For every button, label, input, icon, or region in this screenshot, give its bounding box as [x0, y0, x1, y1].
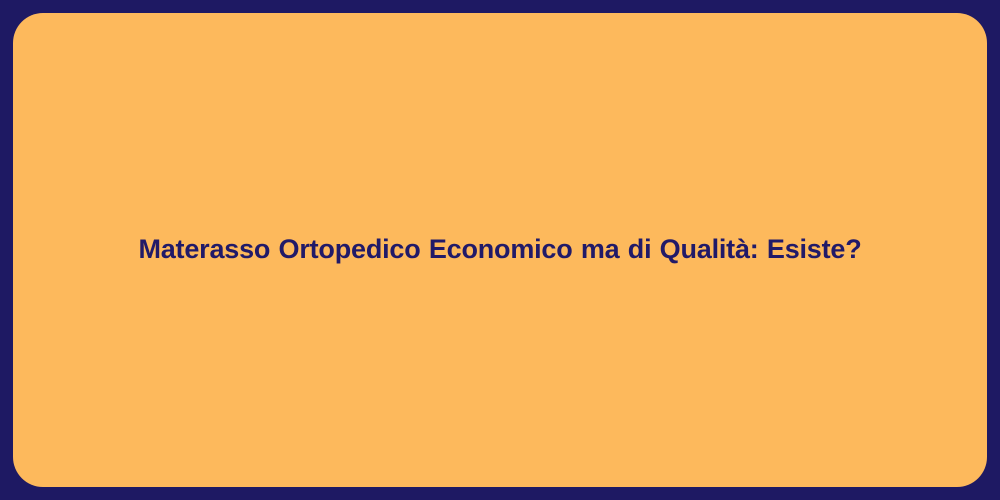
- page-title: Materasso Ortopedico Economico ma di Qua…: [13, 233, 987, 267]
- banner-root: Materasso Ortopedico Economico ma di Qua…: [0, 0, 1000, 500]
- banner-card: Materasso Ortopedico Economico ma di Qua…: [13, 13, 987, 487]
